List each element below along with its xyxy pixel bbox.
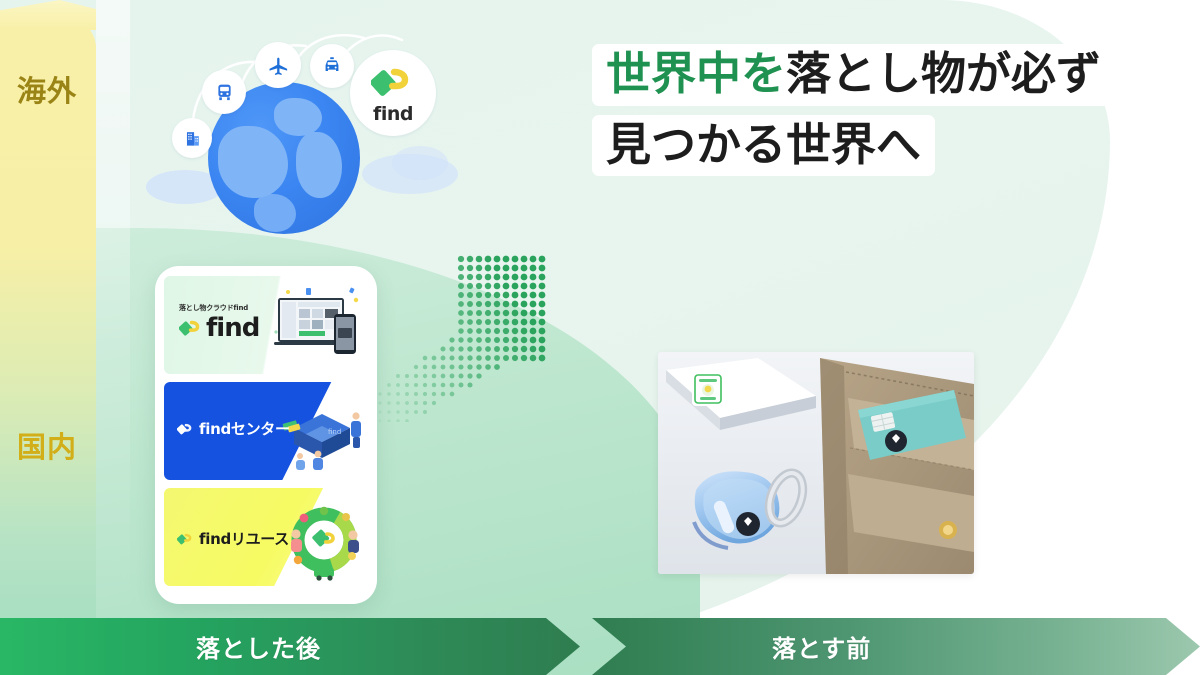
axis-label-domestic: 国内	[17, 424, 77, 466]
timeline-label-before: 落とす前	[772, 629, 871, 664]
taxi-icon-bubble	[310, 44, 354, 88]
axis-label-overseas: 海外	[17, 68, 77, 110]
train-icon	[214, 82, 235, 103]
timeline-segment-after[interactable]: 落とした後	[0, 618, 580, 675]
find-logo-mark	[371, 62, 415, 102]
card-reuse-label: findリユース	[177, 528, 289, 549]
card-find-center[interactable]: findセンター find	[164, 382, 368, 480]
card-center-title: findセンター	[199, 418, 290, 439]
card-center-label: findセンター	[177, 418, 290, 439]
find-wordmark: find	[373, 103, 413, 125]
find-brand-bubble: find	[350, 50, 436, 136]
product-photo-svg	[658, 352, 974, 574]
headline: 世界中を落とし物が必ず 見つかる世界へ	[592, 44, 1115, 185]
train-icon-bubble	[202, 70, 246, 114]
dotted-arrow-svg	[378, 242, 578, 422]
product-photo	[658, 352, 974, 574]
card-find-artwork	[272, 284, 364, 366]
background-band-sheen	[96, 0, 130, 620]
headline-line-1: 世界中を落とし物が必ず	[592, 44, 1115, 106]
taxi-icon	[321, 55, 343, 77]
slide-canvas: 海外 国内 世界中を落とし物が必ず 見つかる世界へ	[0, 0, 1200, 675]
find-logo-mark-reuse	[177, 531, 194, 547]
card-find-reuse[interactable]: findリユース	[164, 488, 368, 586]
timeline-bar: 落とした後 落とす前	[0, 618, 1200, 675]
timeline-label-after: 落とした後	[196, 629, 321, 664]
card-find-title: find	[206, 315, 259, 341]
find-logo-mark-card	[179, 317, 203, 339]
airplane-icon-bubble	[255, 42, 301, 88]
dotted-arrow	[378, 242, 578, 422]
timeline-segment-before[interactable]: 落とす前	[592, 618, 1200, 675]
service-card-stack[interactable]: 落とし物クラウドfind find	[155, 266, 377, 604]
find-logo-mark-center	[177, 421, 194, 437]
card-reuse-title: findリユース	[199, 528, 289, 549]
card-find[interactable]: 落とし物クラウドfind find	[164, 276, 368, 374]
airplane-icon	[267, 54, 290, 77]
svg-text:find: find	[328, 428, 341, 436]
globe-illustration: find	[140, 22, 470, 232]
headline-accent: 世界中を	[606, 47, 786, 100]
headline-line-2: 見つかる世界へ	[592, 115, 935, 177]
building-icon	[183, 129, 202, 148]
building-icon-bubble	[172, 118, 212, 158]
headline-line-1-rest: 落とし物が必ず	[786, 47, 1101, 100]
card-find-label: 落とし物クラウドfind find	[179, 303, 259, 341]
card-find-kicker: 落とし物クラウドfind	[179, 303, 248, 313]
